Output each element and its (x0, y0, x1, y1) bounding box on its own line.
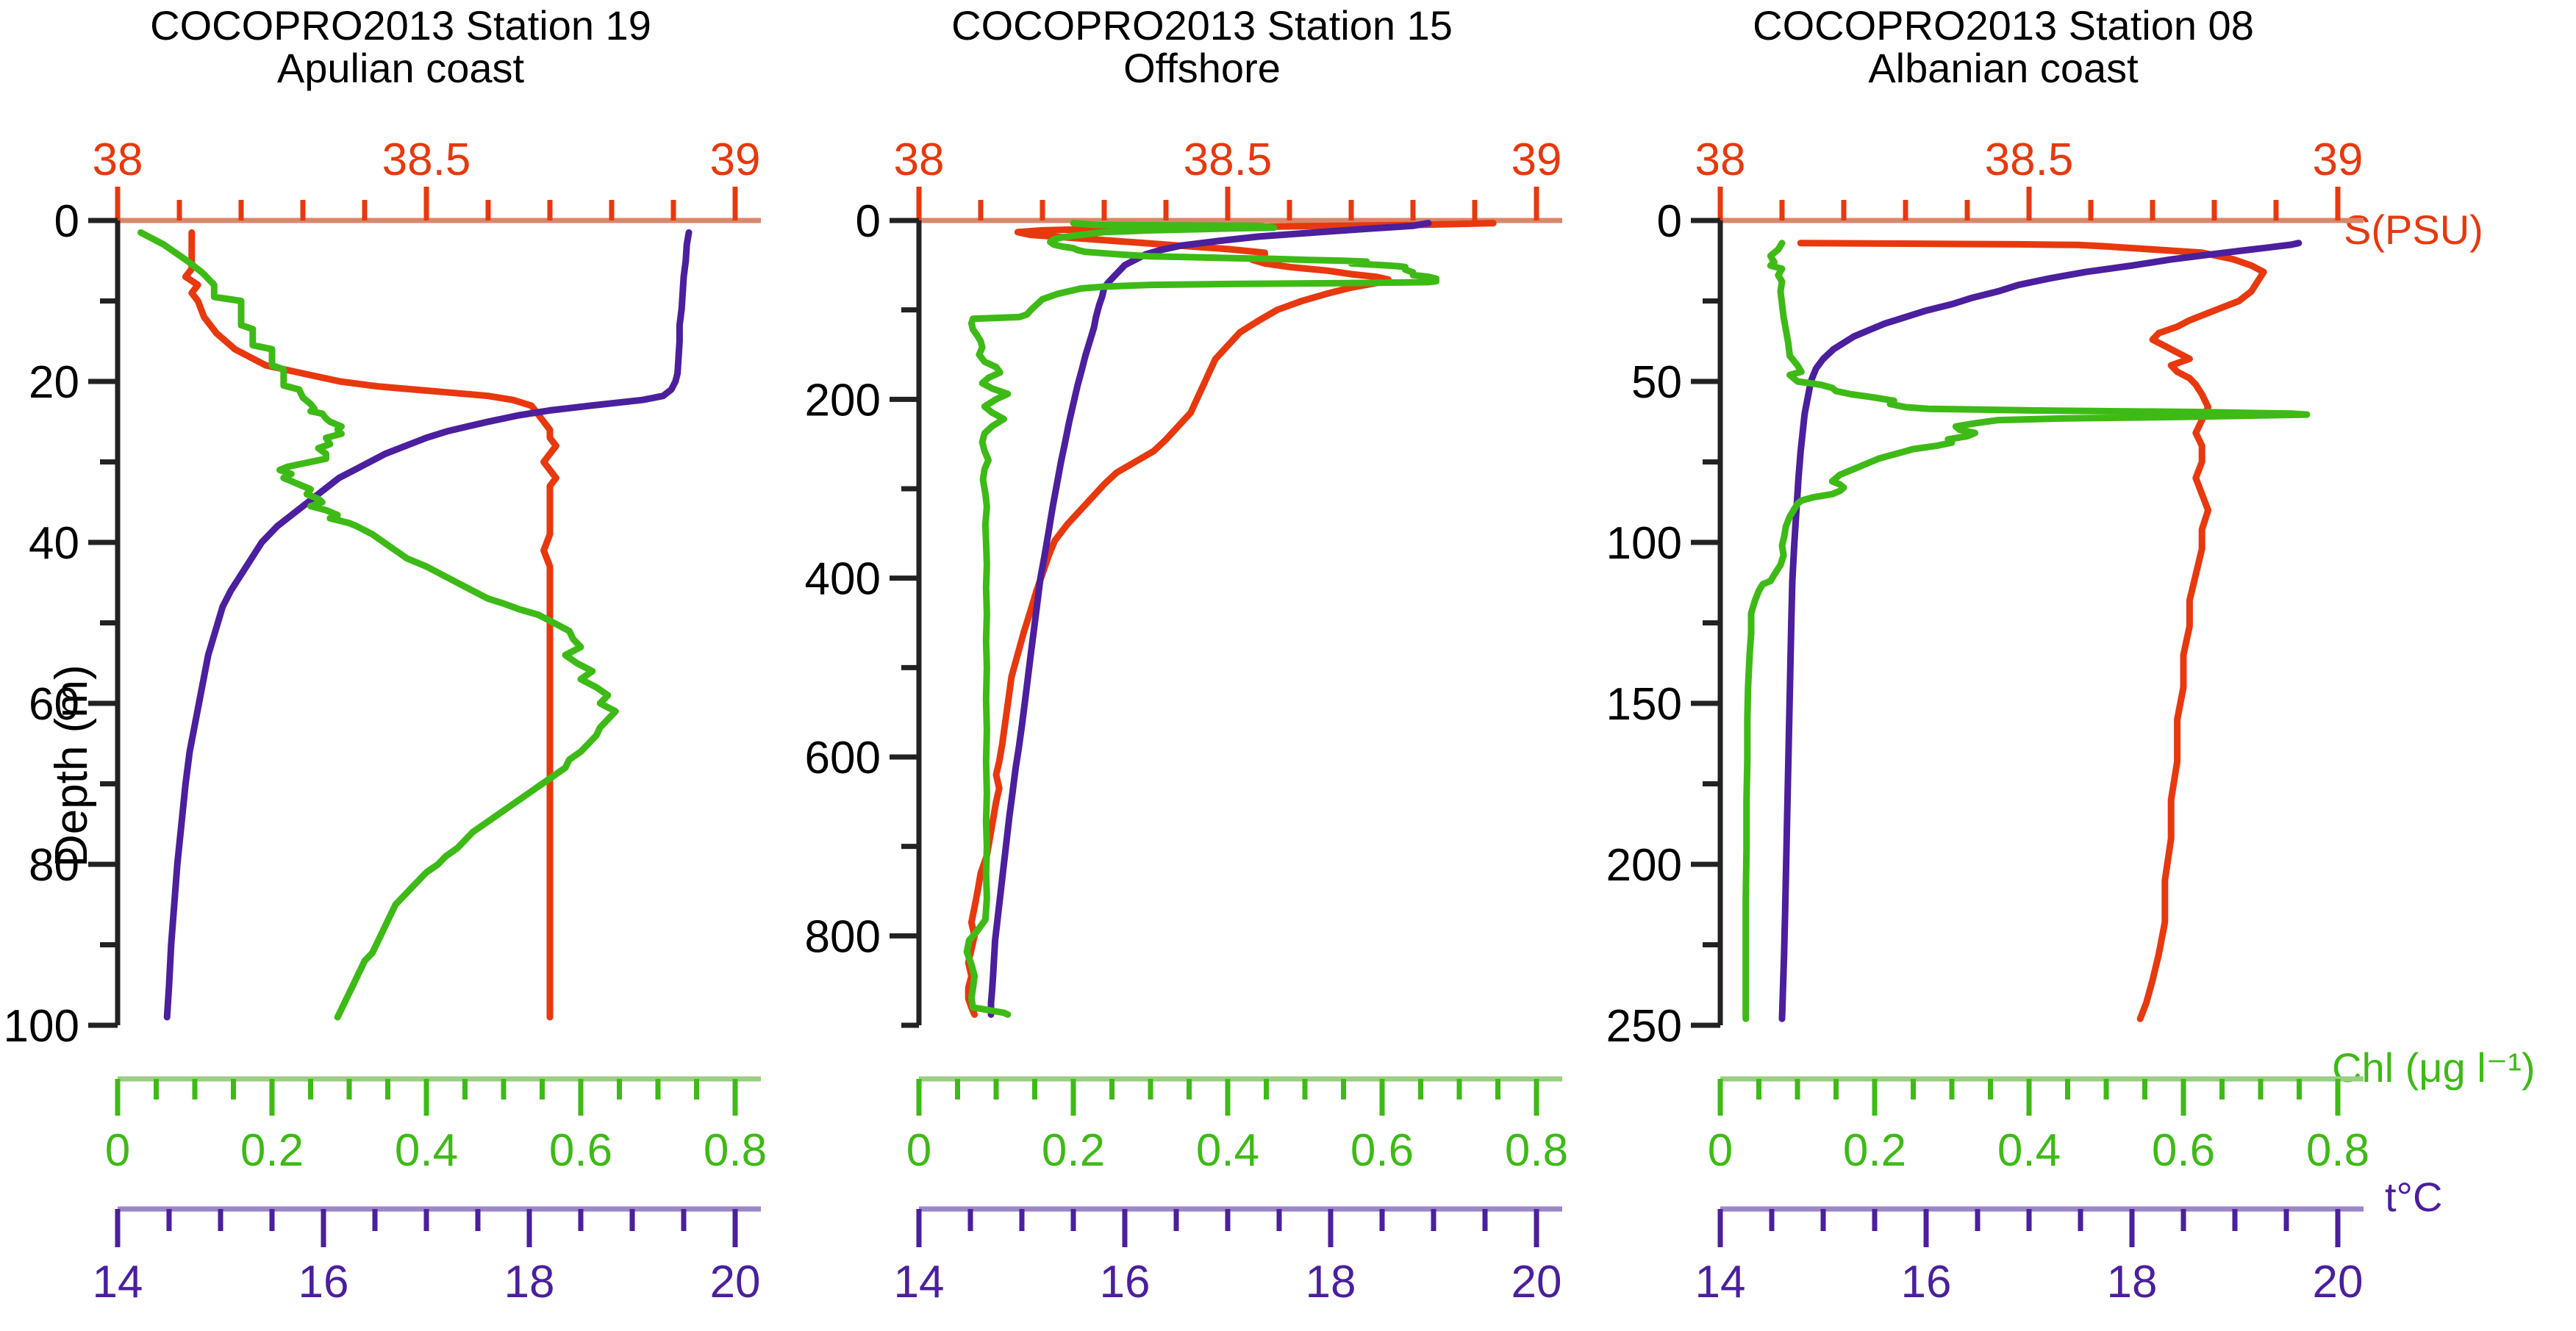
salinity-tick-label: 38.5 (1184, 134, 1273, 185)
temperature-tick-label: 16 (1100, 1257, 1151, 1307)
salinity-tick-label: 38 (93, 134, 143, 185)
depth-tick-label: 100 (1606, 518, 1682, 569)
temperature-tick-label: 20 (2313, 1257, 2364, 1307)
salinity-tick-label: 39 (2313, 134, 2364, 185)
depth-tick-label: 40 (29, 518, 79, 569)
chlorophyll-tick-label: 0 (906, 1125, 931, 1176)
salinity-tick-label: 38.5 (1985, 134, 2074, 185)
panel-station-08: COCOPRO2013 Station 08Albanian coast3838… (1603, 0, 2404, 1331)
depth-tick-label: 400 (805, 554, 881, 605)
chlorophyll-tick-label: 0.8 (704, 1125, 767, 1176)
salinity-tick-label: 38 (1695, 134, 1746, 185)
depth-tick-label: 600 (805, 733, 881, 783)
chlorophyll-tick-label: 0.2 (1042, 1125, 1105, 1176)
temperature-tick-label: 14 (894, 1257, 945, 1307)
temperature-tick-label: 18 (504, 1257, 555, 1307)
profile-curve-temperature (1782, 243, 2299, 1019)
profile-curve-chlorophyll (1746, 243, 2307, 1019)
temperature-tick-label: 14 (1695, 1257, 1746, 1307)
chlorophyll-tick-label: 0.4 (395, 1125, 458, 1176)
depth-tick-label: 200 (805, 375, 881, 426)
depth-tick-label: 50 (1631, 357, 1682, 408)
chlorophyll-tick-label: 0.2 (1843, 1125, 1906, 1176)
depth-tick-label: 0 (1657, 196, 1682, 247)
chlorophyll-tick-label: 0.6 (2152, 1125, 2215, 1176)
panel-station-15: COCOPRO2013 Station 15Offshore3838.53902… (801, 0, 1603, 1331)
depth-tick-label: 0 (54, 196, 79, 247)
temperature-tick-label: 16 (1901, 1257, 1952, 1307)
chlorophyll-tick-label: 0.6 (1350, 1125, 1414, 1176)
temperature-tick-label: 14 (93, 1257, 143, 1307)
chlorophyll-tick-label: 0.4 (1196, 1125, 1259, 1176)
temperature-tick-label: 16 (298, 1257, 349, 1307)
temperature-tick-label: 20 (710, 1257, 761, 1307)
chlorophyll-tick-label: 0.2 (240, 1125, 304, 1176)
depth-tick-label: 0 (856, 196, 881, 247)
panel-station-19: COCOPRO2013 Station 19Apulian coast3838.… (0, 0, 801, 1331)
profile-curve-temperature (991, 223, 1428, 1015)
profile-curve-salinity (185, 232, 556, 1017)
temperature-tick-label: 18 (1306, 1257, 1356, 1307)
salinity-tick-label: 39 (710, 134, 761, 185)
profile-curve-temperature (167, 232, 689, 1017)
temperature-tick-label: 18 (2107, 1257, 2158, 1307)
chlorophyll-tick-label: 0.4 (1997, 1125, 2061, 1176)
depth-tick-label: 800 (805, 911, 881, 962)
profile-curve-chlorophyll (141, 232, 616, 1017)
chlorophyll-tick-label: 0 (105, 1125, 130, 1176)
depth-tick-label: 20 (29, 357, 79, 408)
salinity-tick-label: 39 (1511, 134, 1562, 185)
depth-tick-label: 80 (29, 840, 79, 891)
figure-root: Depth (m) S(PSU) Chl (μg l⁻¹) t°C COCOPR… (0, 0, 2576, 1331)
profile-curve-salinity (968, 223, 1493, 1015)
chlorophyll-tick-label: 0.8 (2306, 1125, 2369, 1176)
depth-tick-label: 200 (1606, 840, 1682, 891)
salinity-tick-label: 38 (894, 134, 945, 185)
profile-curve-salinity (1800, 243, 2264, 1019)
depth-tick-label: 100 (4, 1001, 79, 1052)
salinity-tick-label: 38.5 (382, 134, 471, 185)
temperature-tick-label: 20 (1511, 1257, 1562, 1307)
depth-tick-label: 150 (1606, 679, 1682, 730)
chlorophyll-tick-label: 0.8 (1505, 1125, 1568, 1176)
chlorophyll-tick-label: 0 (1708, 1125, 1733, 1176)
depth-tick-label: 60 (29, 679, 79, 730)
depth-tick-label: 250 (1606, 1001, 1682, 1052)
chlorophyll-tick-label: 0.6 (549, 1125, 612, 1176)
